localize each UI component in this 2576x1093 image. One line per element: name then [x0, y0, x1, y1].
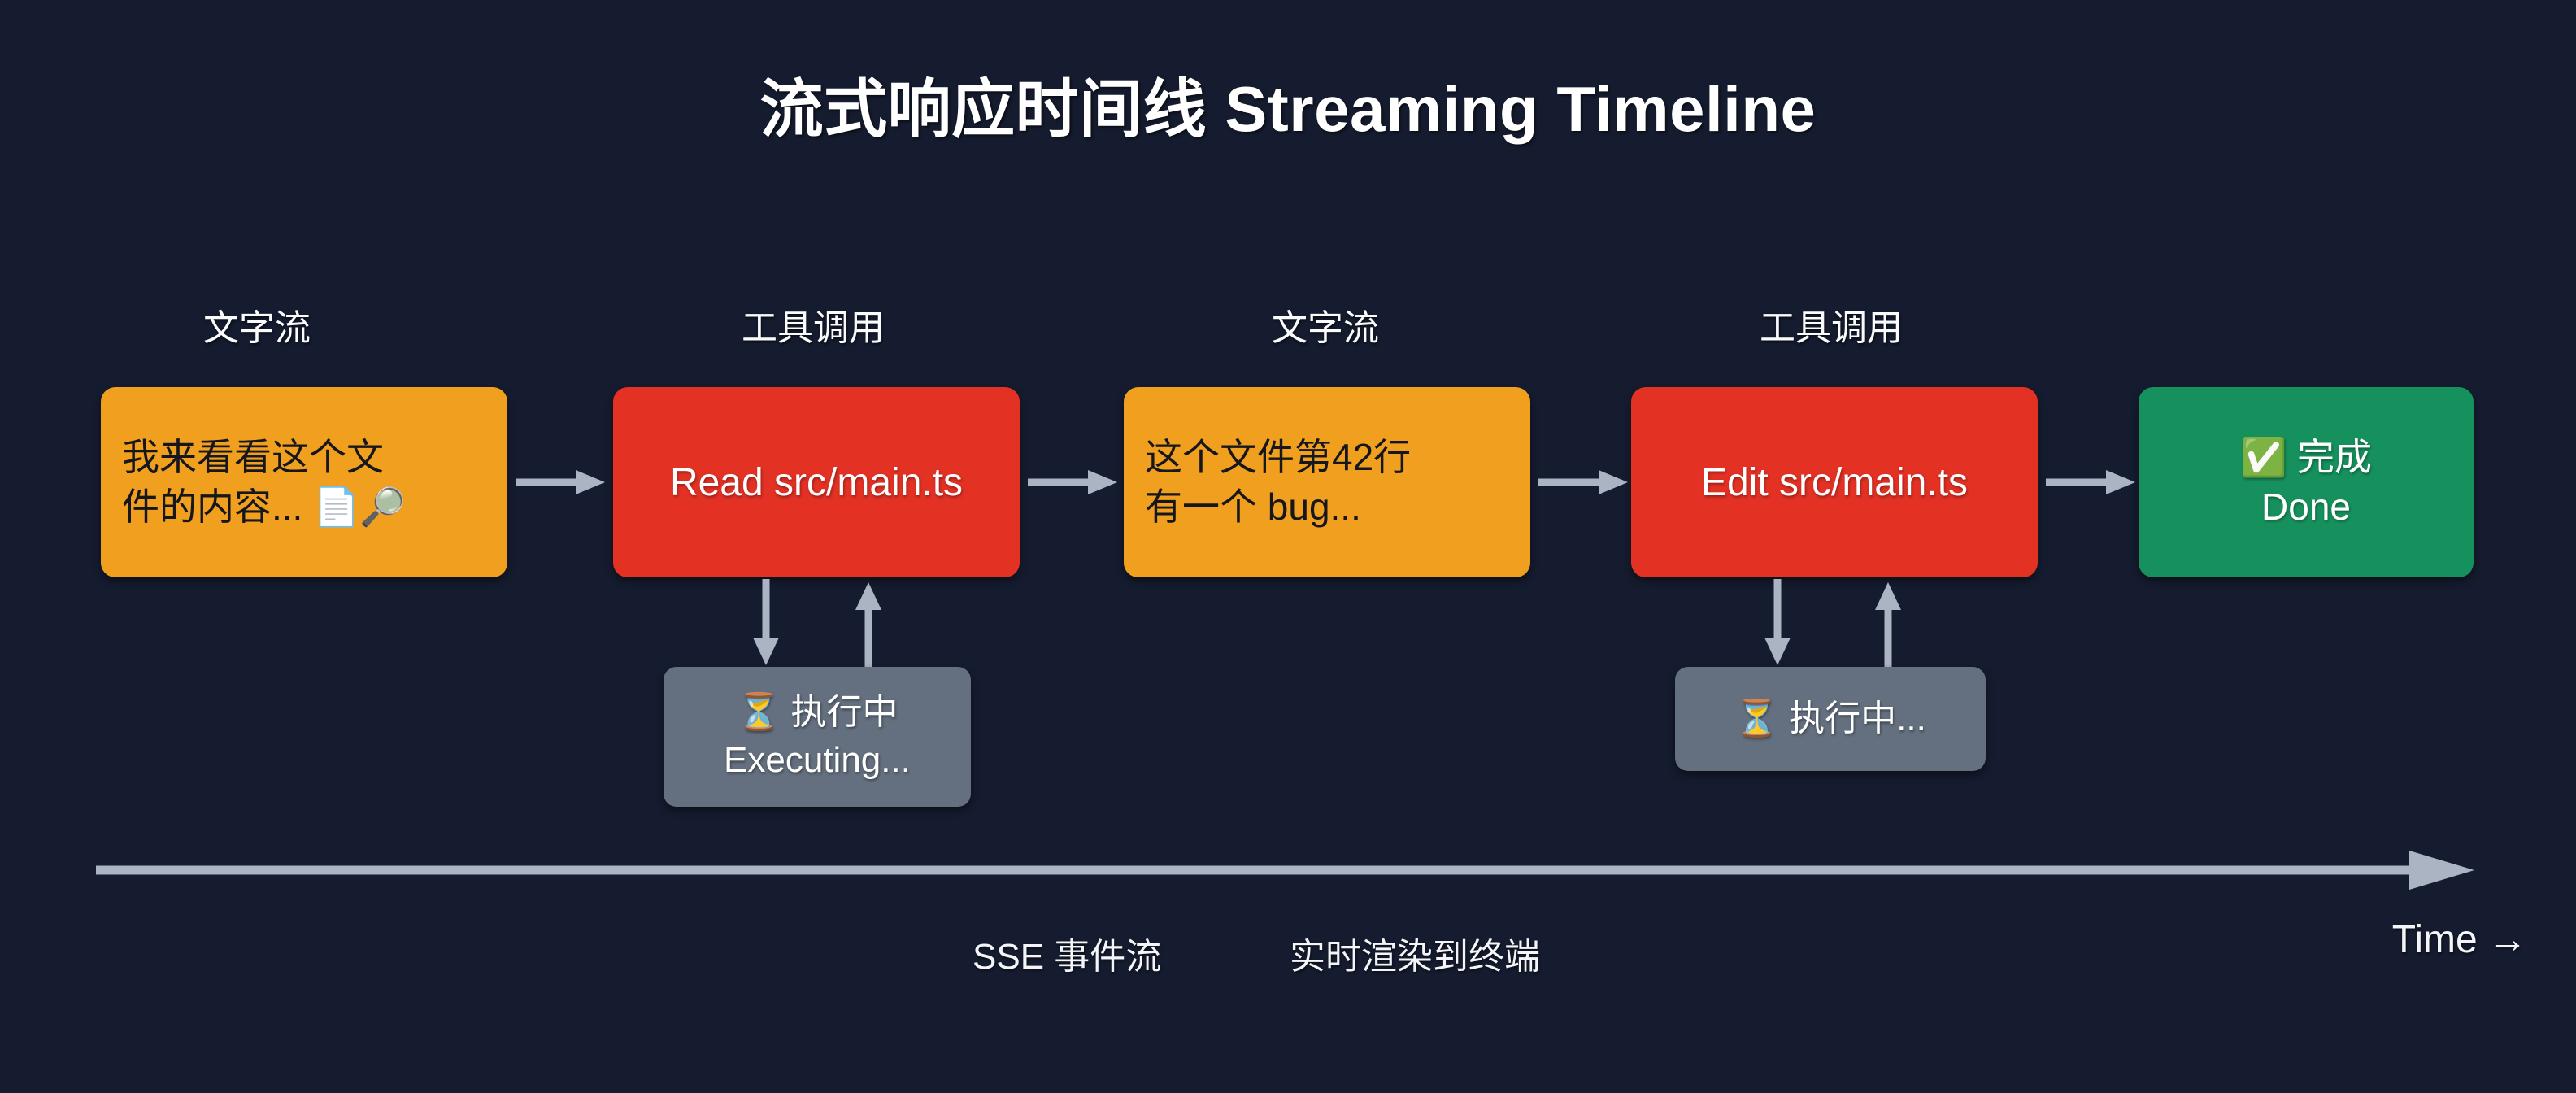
stage-node-text-stream-1[interactable]: 我来看看这个文 件的内容... 📄🔎 — [101, 387, 507, 577]
executing-line: ⏳ 执行中... — [1734, 695, 1926, 743]
executing-node-2[interactable]: ⏳ 执行中... — [1675, 667, 1986, 771]
axis-note-sse: SSE 事件流 — [973, 927, 1161, 979]
executing-line: Executing... — [724, 737, 911, 785]
page-title: 流式响应时间线 Streaming Timeline — [0, 59, 2576, 150]
column-header-cn: 工具调用 — [1760, 308, 1903, 348]
axis-time-label: Time → — [2392, 917, 2527, 962]
connector-arrow-3 — [1538, 468, 1631, 496]
stage-line: Done — [2261, 482, 2351, 532]
stage-line: Read src/main.ts — [670, 460, 963, 505]
column-header-cn: 文字流 — [1272, 308, 1379, 348]
column-header-cn: 工具调用 — [742, 308, 885, 348]
executing-up-arrow-1 — [851, 579, 886, 668]
stage-line: 件的内容... 📄🔎 — [122, 482, 407, 532]
connector-arrow-1 — [516, 468, 608, 496]
connector-arrow-2 — [1028, 468, 1120, 496]
axis-note-render: 实时渲染到终端 — [1290, 927, 1540, 979]
executing-down-arrow-2 — [1760, 579, 1795, 668]
stage-node-tool-call-2[interactable]: Edit src/main.ts — [1631, 387, 2038, 577]
stage-line: ✅ 完成 — [2240, 433, 2372, 482]
stage-line: 这个文件第42行 — [1145, 433, 1411, 482]
executing-line: ⏳ 执行中 — [736, 689, 898, 737]
timeline-axis — [96, 846, 2478, 895]
stage-node-done[interactable]: ✅ 完成 Done — [2139, 387, 2474, 577]
executing-up-arrow-2 — [1870, 579, 1906, 668]
executing-node-1[interactable]: ⏳ 执行中 Executing... — [664, 667, 971, 807]
streaming-timeline-diagram: 流式响应时间线 Streaming Timeline 文字流 Text Stre… — [0, 0, 2576, 1093]
stage-node-tool-call-1[interactable]: Read src/main.ts — [613, 387, 1020, 577]
column-header-cn: 文字流 — [203, 308, 311, 348]
stage-line: 我来看看这个文 — [122, 433, 384, 482]
connector-arrow-4 — [2046, 468, 2139, 496]
stage-node-text-stream-2[interactable]: 这个文件第42行 有一个 bug... — [1124, 387, 1530, 577]
stage-line: 有一个 bug... — [1145, 482, 1361, 532]
stage-line: Edit src/main.ts — [1701, 460, 1968, 505]
executing-down-arrow-1 — [748, 579, 784, 668]
